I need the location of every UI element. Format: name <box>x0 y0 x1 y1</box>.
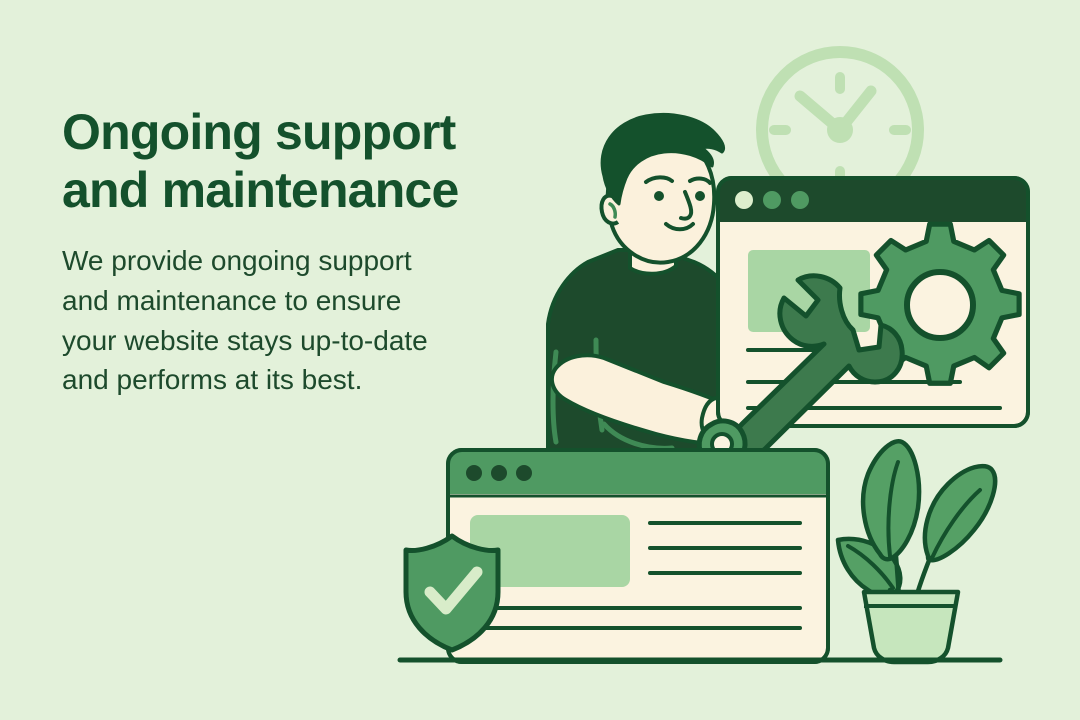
text-block: Ongoing support and maintenance We provi… <box>62 104 532 400</box>
page-description: We provide ongoing support and maintenan… <box>62 241 532 400</box>
window-dot-minimize[interactable] <box>763 191 781 209</box>
window-dot-maximize[interactable] <box>516 465 532 481</box>
window-dot-close[interactable] <box>466 465 482 481</box>
window-dot-maximize[interactable] <box>791 191 809 209</box>
window-dot-close[interactable] <box>735 191 753 209</box>
page-title: Ongoing support and maintenance <box>62 104 532 219</box>
window-dot-minimize[interactable] <box>491 465 507 481</box>
illustration-canvas: Ongoing support and maintenance We provi… <box>0 0 1080 720</box>
